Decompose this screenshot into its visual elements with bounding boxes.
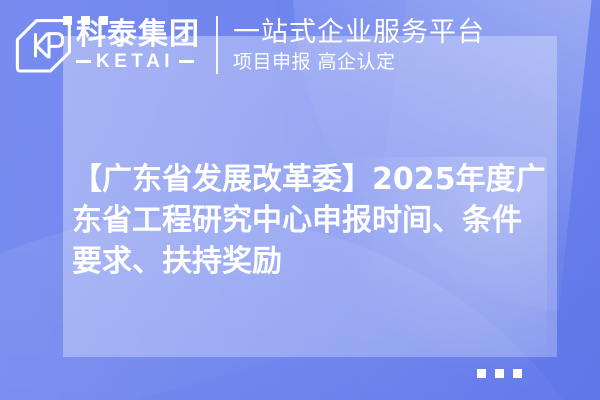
decorative-squares-bottom-right: [477, 369, 522, 378]
tagline-primary: 一站式企业服务平台: [233, 17, 485, 48]
brand-wordmark: 科泰集团 KETAI: [76, 19, 200, 72]
headline-block: 【广东省发展改革委】2025年度广 东省工程研究中心申报时间、条件 要求、扶持奖…: [72, 159, 592, 282]
wordmark-rule-left: [76, 60, 91, 63]
ketai-kp-diamond-logo-icon: [14, 16, 72, 74]
tagline-block: 一站式企业服务平台 项目申报 高企认定: [233, 17, 485, 74]
tagline-secondary: 项目申报 高企认定: [233, 50, 485, 74]
brand-tagline-divider: [216, 16, 218, 74]
wordmark-rule-right: [179, 60, 194, 63]
headline-line-2: 东省工程研究中心申报时间、条件: [72, 200, 592, 241]
headline-line-1: 【广东省发展改革委】2025年度广: [72, 159, 592, 200]
brand-header: 科泰集团 KETAI 一站式企业服务平台 项目申报 高企认定: [14, 9, 485, 81]
brand-name-cn: 科泰集团: [76, 19, 200, 51]
decorative-square: [513, 369, 522, 378]
promo-poster: 科泰集团 KETAI 一站式企业服务平台 项目申报 高企认定 【广东省发展改革委…: [0, 0, 600, 400]
decorative-square: [477, 369, 486, 378]
brand-name-latin: KETAI: [96, 52, 174, 72]
brand-name-latin-row: KETAI: [76, 52, 200, 72]
headline-line-3: 要求、扶持奖励: [72, 241, 592, 282]
decorative-square: [495, 369, 504, 378]
